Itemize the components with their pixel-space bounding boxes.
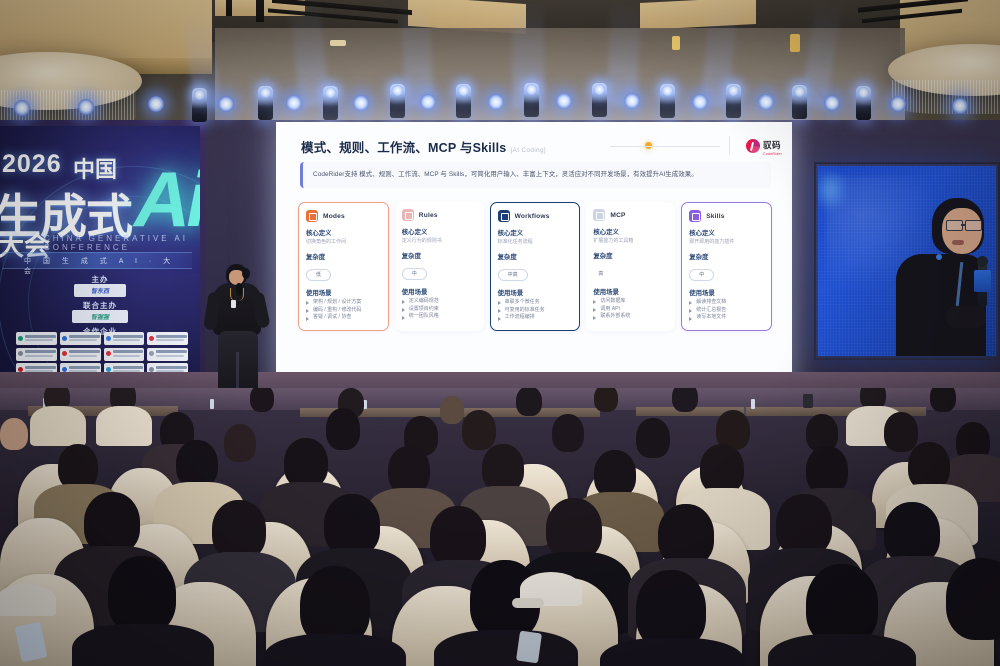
- light-orb-7: [556, 93, 572, 109]
- audience-torso: [72, 624, 214, 666]
- skills-complexity-badge: 中: [689, 269, 714, 281]
- light-orb-2: [218, 96, 234, 112]
- audience-head: [546, 498, 602, 560]
- audience-torso: [768, 634, 916, 666]
- audience-head: [552, 414, 584, 452]
- audience-head: [326, 408, 360, 450]
- audience-head: [224, 424, 256, 462]
- chandelier-right-crystals: [892, 80, 1000, 114]
- audience-head: [884, 502, 940, 564]
- workflows-scenarios: 串联多个微任务 可复用的标准任务 工作流程编排: [498, 299, 573, 322]
- coderider-mark-icon: [746, 139, 760, 153]
- light-orb-6: [488, 94, 504, 110]
- audience-head: [946, 558, 1000, 640]
- partner-logo: [147, 348, 188, 361]
- modes-definition: 切换角色的工作间: [306, 239, 381, 245]
- rules-complexity-badge: 中: [402, 268, 427, 280]
- card-rules[interactable]: Rules 核心定义 定义行为的规则书 复杂度 中 使用场景 定义编码规范 设置…: [395, 202, 484, 331]
- card-mcp[interactable]: MCP 核心定义 扩展能力的工具箱 复杂度 高 使用场景 访问数据库 调用 AP…: [586, 202, 675, 331]
- speaker-badge: [231, 300, 236, 308]
- card-title-modes: Modes: [323, 213, 345, 220]
- label-definition: 核心定义: [689, 228, 764, 237]
- light-orb-5: [420, 94, 436, 110]
- label-scenarios: 使用场景: [306, 288, 381, 297]
- audience-torso: [600, 638, 744, 666]
- phone-screen-2: [516, 631, 542, 664]
- stage-light-11: [192, 88, 207, 122]
- audience-head: [462, 410, 496, 450]
- white-cap-brim: [512, 598, 544, 608]
- audience-head: [636, 418, 670, 458]
- projection-screen: 模式、规则、工作流、MCP 与Skills[AI Coding] 驭码 Code…: [276, 122, 792, 388]
- audience-head: [108, 556, 176, 634]
- audience-head: [84, 492, 140, 554]
- stage-light-3: [390, 84, 405, 118]
- slide-header-divider: [729, 136, 730, 154]
- partner-logo: [104, 348, 145, 361]
- water-bottle-2: [210, 399, 214, 409]
- stage-light-9: [792, 85, 807, 119]
- card-title-mcp: MCP: [610, 212, 625, 219]
- list-item: 访问数据库: [593, 298, 668, 306]
- banner-year: 2026: [2, 150, 62, 179]
- slide-summary-text: CodeRider支持 模式、规则、工作流、MCP 与 Skills，可简化用户…: [303, 171, 708, 179]
- label-complexity: 复杂度: [306, 252, 381, 261]
- mcp-definition: 扩展能力的工具箱: [593, 238, 668, 244]
- ceiling-beam-6: [226, 0, 232, 16]
- stage-light-7: [660, 84, 675, 118]
- led-wall-frame: [814, 162, 1000, 360]
- audience-head: [176, 440, 218, 488]
- label-definition: 核心定义: [498, 228, 573, 237]
- banner-host-name: 智东西: [74, 284, 126, 297]
- audience-head: [284, 438, 328, 488]
- audience-head: [700, 444, 744, 494]
- banner-ribbon: 中 国 生 成 式 A I · 大 会: [2, 252, 192, 269]
- rules-scenarios: 定义编码规范 设置项目约束 统一团队风格: [402, 298, 477, 321]
- brand-name-en: CodeRider: [763, 153, 782, 157]
- banner-sub-latin: CHINA GENERATIVE AI CONFERENCE: [44, 234, 200, 252]
- skills-icon: [689, 210, 701, 222]
- light-orb-13: [952, 98, 968, 114]
- audience-head: [776, 494, 832, 556]
- ceiling: [0, 0, 1000, 132]
- mcp-icon: [593, 209, 605, 221]
- slide-summary-note: CodeRider支持 模式、规则、工作流、MCP 与 Skills，可简化用户…: [300, 162, 771, 188]
- label-complexity: 复杂度: [689, 252, 764, 261]
- audience-head: [806, 446, 848, 494]
- light-orb-10: [758, 94, 774, 110]
- stage-light-4: [456, 84, 471, 118]
- audience-head: [516, 388, 542, 416]
- card-skills[interactable]: Skills 核心定义 即开即用的能力插件 复杂度 中 使用场景 解读排查文档 …: [681, 202, 772, 331]
- audience-head: [658, 504, 714, 566]
- slide-title-tag: [AI Coding]: [510, 147, 545, 154]
- white-cap-2: [0, 584, 56, 616]
- audience-head: [324, 494, 380, 556]
- label-scenarios: 使用场景: [593, 287, 668, 296]
- card-title-skills: Skills: [706, 213, 724, 220]
- modes-complexity-badge: 低: [306, 269, 331, 281]
- stage-light-5: [524, 83, 539, 117]
- audience-head: [594, 388, 618, 412]
- ceiling-spot-b: [672, 36, 680, 50]
- mcp-scenarios: 访问数据库 调用 API 联系外部系统: [593, 298, 668, 321]
- av-equipment: [803, 394, 813, 408]
- skills-definition: 即开即用的能力插件: [689, 239, 764, 245]
- label-scenarios: 使用场景: [402, 287, 477, 296]
- light-orb-3: [286, 95, 302, 111]
- list-item: 架构 / 规划 / 设计方案: [306, 299, 381, 307]
- rules-icon: [402, 209, 414, 221]
- conference-photo: 2026 中国 生成式 Ai 大会 CHINA GENERATIVE AI CO…: [0, 0, 1000, 666]
- modes-scenarios: 架构 / 规划 / 设计方案 编码 / 重构 / 修改代码 答疑 / 调试 / …: [306, 299, 381, 322]
- water-bottle-4: [751, 399, 755, 409]
- card-title-workflows: Workflows: [515, 213, 550, 220]
- speaker-hair-bun: [242, 268, 250, 279]
- light-orb-8: [624, 93, 640, 109]
- audience-head: [482, 444, 524, 492]
- audience-torso: [434, 630, 578, 666]
- light-orb-12: [890, 96, 906, 112]
- list-item: 联系外部系统: [593, 313, 668, 321]
- light-orb-1: [148, 96, 164, 112]
- light-orb-11: [824, 95, 840, 111]
- list-item: 答疑 / 调试 / 协查: [306, 314, 381, 322]
- audience-head: [0, 418, 28, 450]
- light-orb-9: [692, 94, 708, 110]
- slide-title-cn: 模式、规则、工作流、: [301, 141, 428, 155]
- banner-host-chip: 智东西: [74, 284, 126, 297]
- stage-light-2: [323, 86, 338, 120]
- workflows-definition: 标准化任务流程: [498, 239, 573, 245]
- slide-title-mcp: MCP: [428, 141, 456, 155]
- audience-head: [440, 396, 464, 424]
- partner-logo: [60, 332, 101, 345]
- label-complexity: 复杂度: [498, 252, 573, 261]
- banner-ribbon-text: 中 国 生 成 式 A I · 大 会: [24, 256, 192, 276]
- label-scenarios: 使用场景: [689, 288, 764, 297]
- card-modes[interactable]: Modes 核心定义 切换角色的工作间 复杂度 低 使用场景 架构 / 规划 /…: [298, 202, 389, 331]
- audience-head: [930, 388, 956, 412]
- ceiling-panel-left: [0, 0, 212, 60]
- label-scenarios: 使用场景: [498, 288, 573, 297]
- audience-area: [0, 388, 1000, 666]
- banner-cohost-name: 智猩猩: [72, 310, 128, 323]
- list-item: 解读排查文档: [689, 299, 764, 307]
- light-orb-14: [78, 99, 94, 115]
- rules-definition: 定义行为的规则书: [402, 238, 477, 244]
- partner-logo: [16, 332, 57, 345]
- list-item: 读写本地文件: [689, 314, 764, 322]
- audience-torso: [30, 406, 86, 446]
- card-workflows[interactable]: Workflows 核心定义 标准化任务流程 复杂度 中高 使用场景 串联多个微…: [490, 202, 581, 331]
- banner-ai-mark: Ai: [134, 160, 200, 238]
- audience-head: [884, 412, 918, 452]
- partner-logo: [60, 348, 101, 361]
- label-complexity: 复杂度: [593, 251, 668, 260]
- modes-icon: [306, 210, 318, 222]
- banner-cohost-chip: 智猩猩: [72, 310, 128, 323]
- audience-head: [908, 442, 950, 490]
- ceiling-spot-c: [790, 34, 800, 52]
- brand-logo: 驭码 CodeRider: [746, 136, 782, 157]
- ceiling-spot-a: [330, 40, 346, 46]
- audience-head: [212, 500, 266, 560]
- mcp-complexity-badge: 高: [593, 268, 613, 280]
- list-item: 统一团队风格: [402, 313, 477, 321]
- event-banner: 2026 中国 生成式 Ai 大会 CHINA GENERATIVE AI CO…: [0, 126, 200, 382]
- label-definition: 核心定义: [593, 227, 668, 236]
- feature-cards: Modes 核心定义 切换角色的工作间 复杂度 低 使用场景 架构 / 规划 /…: [298, 202, 772, 331]
- slide-header-rule: [610, 146, 720, 147]
- label-complexity: 复杂度: [402, 251, 477, 260]
- partner-logo: [147, 332, 188, 345]
- light-orb-15: [14, 100, 30, 116]
- list-item: 工作流程编排: [498, 314, 573, 322]
- speaker-microphone: [236, 283, 242, 296]
- stage-light-6: [592, 83, 607, 117]
- workflows-icon: [498, 210, 510, 222]
- light-orb-4: [353, 95, 369, 111]
- label-definition: 核心定义: [306, 228, 381, 237]
- partner-logo: [16, 348, 57, 361]
- ceiling-beam-1: [256, 0, 264, 22]
- skills-scenarios: 解读排查文档 统计汇总报告 读写本地文件: [689, 299, 764, 322]
- stage-light-10: [856, 86, 871, 120]
- slide-title: 模式、规则、工作流、MCP 与Skills[AI Coding]: [301, 137, 546, 156]
- partner-logo-grid: [16, 332, 188, 376]
- card-title-rules: Rules: [419, 212, 438, 219]
- presentation-slide: 模式、规则、工作流、MCP 与Skills[AI Coding] 驭码 Code…: [276, 122, 792, 388]
- stage-light-8: [726, 84, 741, 118]
- audience-torso: [264, 634, 406, 666]
- slide-title-with: 与: [460, 141, 473, 155]
- audience-torso: [96, 406, 152, 446]
- workflows-complexity-badge: 中高: [498, 269, 528, 281]
- slide-title-skills: Skills: [473, 141, 507, 155]
- stage-light-1: [258, 86, 273, 120]
- audience-head: [594, 450, 636, 498]
- list-item: 定义编码规范: [402, 298, 477, 306]
- label-definition: 核心定义: [402, 227, 477, 236]
- list-item: 串联多个微任务: [498, 299, 573, 307]
- partner-logo: [104, 332, 145, 345]
- audience-head: [672, 388, 698, 412]
- audience-head: [388, 446, 430, 494]
- brand-name-cn: 驭码: [763, 140, 781, 150]
- audience-head: [250, 388, 274, 412]
- audience-head: [430, 506, 486, 568]
